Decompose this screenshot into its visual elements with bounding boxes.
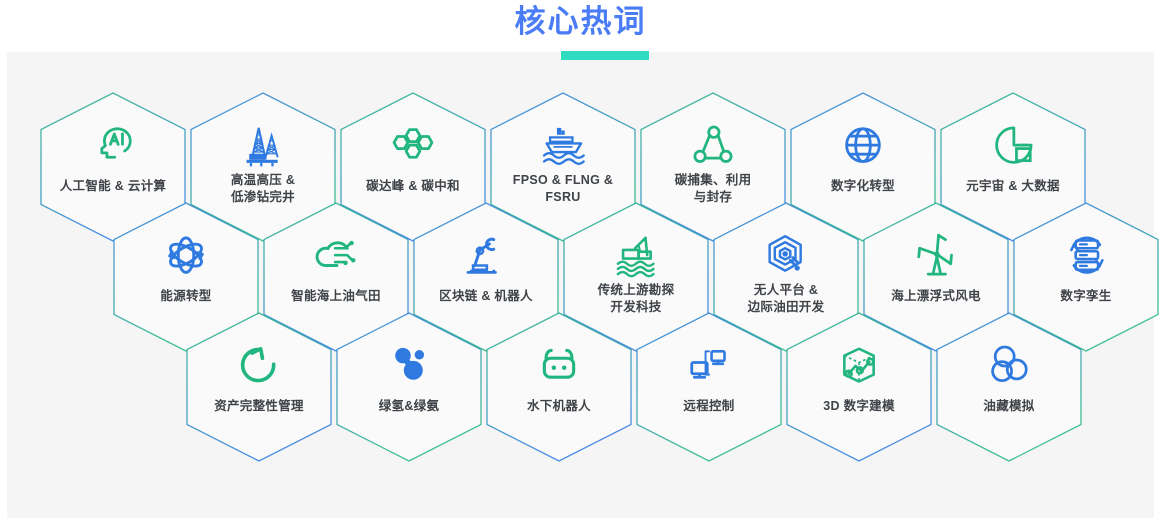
carbon-molecule-icon [340, 118, 486, 174]
hex-label: 元宇宙 & 大数据 [948, 178, 1078, 195]
hex-label: 水下机器人 [494, 398, 624, 415]
hex-label: 人工智能 & 云计算 [48, 178, 178, 195]
hex-label: 数字化转型 [798, 178, 928, 195]
title-underline-bar [561, 51, 649, 60]
hex-cell-reservoir-circles[interactable]: 油藏模拟 [936, 312, 1082, 462]
hex-label: 海上漂浮式风电 [871, 288, 1001, 305]
page-root: 核心热词 人工智能 & 云计算 [0, 0, 1161, 526]
wind-turbine-icon [863, 228, 1009, 284]
remote-control-icon [636, 338, 782, 394]
hex-label: 3D 数字建模 [794, 398, 924, 415]
molecule-dots-icon [336, 338, 482, 394]
reservoir-circles-icon [936, 338, 1082, 394]
page-title: 核心热词 [0, 2, 1161, 42]
hex-label: 传统上游勘探 开发科技 [571, 282, 701, 316]
keywords-panel: 人工智能 & 云计算 高温高压 & 低渗钻完井 [7, 52, 1154, 518]
globe-icon [790, 118, 936, 174]
hex-cell-remote-control[interactable]: 远程控制 [636, 312, 782, 462]
ai-brain-icon [40, 118, 186, 174]
hex-label: 区块链 & 机器人 [421, 288, 551, 305]
hex-label: 无人平台 & 边际油田开发 [721, 282, 851, 316]
hex-label: 绿氢&绿氨 [344, 398, 474, 415]
hex-cell-underwater-robot[interactable]: 水下机器人 [486, 312, 632, 462]
hex-label: 高温高压 & 低渗钻完井 [198, 172, 328, 206]
hex-cell-molecule-dots[interactable]: 绿氢&绿氨 [336, 312, 482, 462]
underwater-robot-icon [486, 338, 632, 394]
ccus-cycle-icon [640, 118, 786, 174]
offshore-rig-icon [563, 228, 709, 284]
hex-label: 智能海上油气田 [271, 288, 401, 305]
robot-arm-icon [413, 228, 559, 284]
hex-label: 远程控制 [644, 398, 774, 415]
hex-cell-cube-model[interactable]: 3D 数字建模 [786, 312, 932, 462]
hex-label: 能源转型 [121, 288, 251, 305]
fpso-vessel-icon [490, 118, 636, 174]
hex-label: FPSO & FLNG & FSRU [498, 172, 628, 206]
hex-label: 资产完整性管理 [194, 398, 324, 415]
hexagon-grid: 人工智能 & 云计算 高温高压 & 低渗钻完井 [7, 52, 1154, 518]
cube-model-icon [786, 338, 932, 394]
digital-twin-icon [1013, 228, 1159, 284]
pie-data-icon [940, 118, 1086, 174]
hex-cell-refresh-arrow[interactable]: 资产完整性管理 [186, 312, 332, 462]
hex-label: 数字孪生 [1021, 288, 1151, 305]
hex-label: 碳捕集、利用 与封存 [648, 172, 778, 206]
unmanned-platform-icon [713, 228, 859, 284]
drilling-rig-icon [190, 118, 336, 174]
refresh-arrow-icon [186, 338, 332, 394]
smart-cloud-icon [263, 228, 409, 284]
hex-label: 碳达峰 & 碳中和 [348, 178, 478, 195]
hex-label: 油藏模拟 [944, 398, 1074, 415]
atom-icon [113, 228, 259, 284]
